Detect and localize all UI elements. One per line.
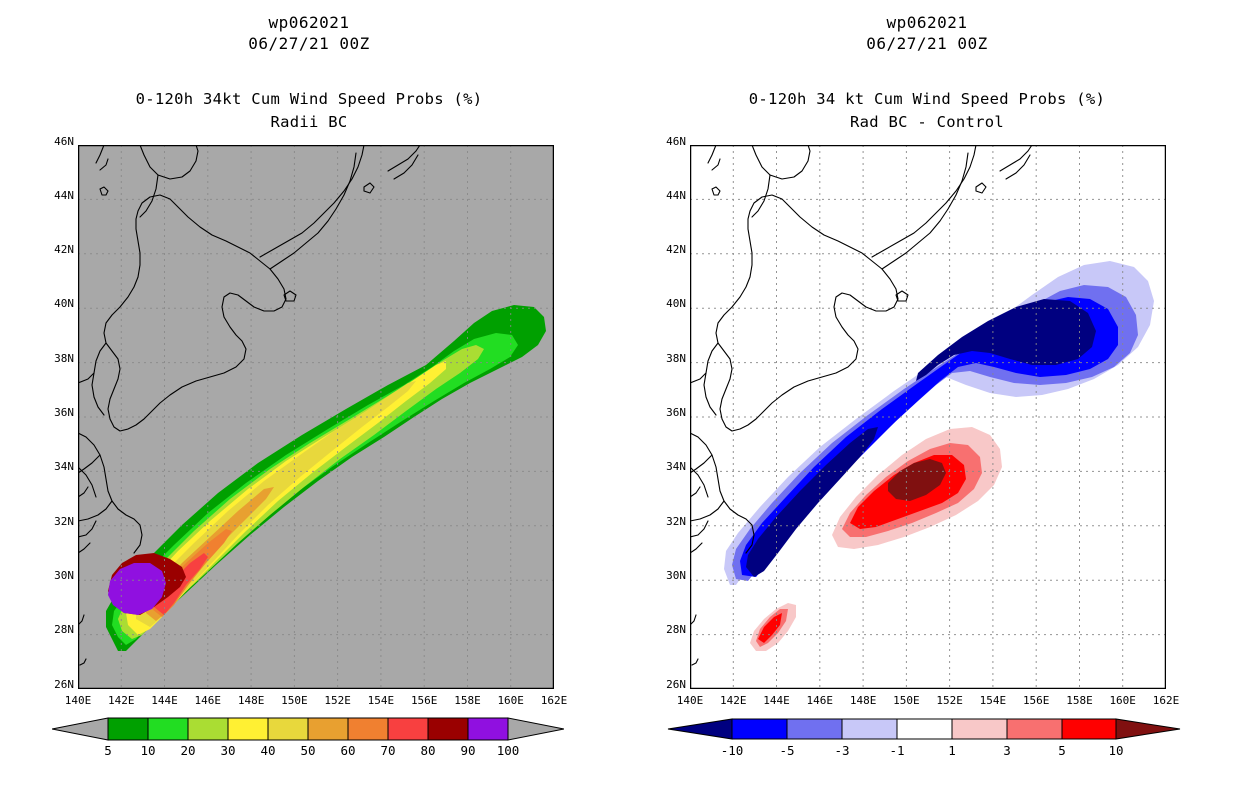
left-ylabel-9: 44N [38, 189, 74, 202]
right-xlabel-9: 158E [1060, 694, 1100, 707]
left-xlabel-1: 142E [101, 694, 141, 707]
left-colorbar: 5 10 20 30 40 50 60 70 80 90 100 [52, 716, 564, 742]
left-colorbar-svg [52, 716, 564, 742]
left-colorbar-swatches [108, 718, 508, 740]
left-xlabel-0: 140E [58, 694, 98, 707]
panel-rad-bc-control: wp062021 06/27/21 00Z 0-120h 34 kt Cum W… [618, 0, 1236, 800]
left-ylabel-0: 26N [38, 678, 74, 691]
left-ylabel-4: 34N [38, 460, 74, 473]
left-ylabel-8: 42N [38, 243, 74, 256]
left-ylabel-3: 32N [38, 515, 74, 528]
right-ylabel-3: 32N [650, 515, 686, 528]
left-subtitle-block: 0-120h 34kt Cum Wind Speed Probs (%) Rad… [0, 88, 618, 134]
left-xlabel-10: 160E [491, 694, 531, 707]
right-cb-label-7: 10 [1096, 743, 1136, 758]
left-ylabel-6: 38N [38, 352, 74, 365]
right-ylabel-2: 30N [650, 569, 686, 582]
right-cb-label-3: -1 [877, 743, 917, 758]
right-xlabel-7: 154E [973, 694, 1013, 707]
page-root: wp062021 06/27/21 00Z 0-120h 34kt Cum Wi… [0, 0, 1236, 800]
right-colorbar-swatches [732, 719, 1116, 739]
right-cb-label-1: -5 [767, 743, 807, 758]
left-xlabel-11: 162E [534, 694, 574, 707]
left-cb-label-1: 10 [128, 743, 168, 758]
right-ylabel-9: 44N [650, 189, 686, 202]
left-cb-label-2: 20 [168, 743, 208, 758]
right-cb-label-4: 1 [932, 743, 972, 758]
right-storm-id: wp062021 [618, 12, 1236, 33]
right-colorbar: -10 -5 -3 -1 1 3 5 10 [664, 716, 1184, 742]
left-xlabel-9: 158E [448, 694, 488, 707]
left-ylabel-5: 36N [38, 406, 74, 419]
left-xlabel-2: 144E [145, 694, 185, 707]
left-xlabel-4: 148E [231, 694, 271, 707]
left-ylabel-1: 28N [38, 623, 74, 636]
left-ylabel-10: 46N [38, 135, 74, 148]
left-colorbar-under-arrow [52, 718, 108, 740]
left-xlabel-8: 156E [404, 694, 444, 707]
right-colorbar-svg [664, 716, 1184, 742]
right-cb-label-5: 3 [987, 743, 1027, 758]
right-ylabel-1: 28N [650, 623, 686, 636]
left-cb-label-8: 80 [408, 743, 448, 758]
left-colorbar-over-arrow [508, 718, 564, 740]
right-xlabel-2: 144E [757, 694, 797, 707]
left-cb-label-0: 5 [88, 743, 128, 758]
left-xlabel-5: 150E [274, 694, 314, 707]
right-xlabel-8: 156E [1016, 694, 1056, 707]
right-ylabel-0: 26N [650, 678, 686, 691]
right-colorbar-under-arrow [668, 719, 732, 739]
left-cb-label-3: 30 [208, 743, 248, 758]
right-map-background [690, 145, 1166, 689]
right-title-block: wp062021 06/27/21 00Z [618, 12, 1236, 54]
left-xlabel-6: 152E [318, 694, 358, 707]
left-plot-area: 26N 28N 30N 32N 34N 36N 38N 40N 42N 44N … [78, 145, 554, 689]
left-cb-label-7: 70 [368, 743, 408, 758]
right-xlabel-10: 160E [1103, 694, 1143, 707]
right-map-svg [690, 145, 1166, 689]
right-ylabel-5: 36N [650, 406, 686, 419]
right-xlabel-5: 150E [886, 694, 926, 707]
right-colorbar-over-arrow [1116, 719, 1180, 739]
right-plot-area: 26N 28N 30N 32N 34N 36N 38N 40N 42N 44N … [690, 145, 1166, 689]
left-cb-label-4: 40 [248, 743, 288, 758]
left-xlabel-7: 154E [361, 694, 401, 707]
right-datetime: 06/27/21 00Z [618, 33, 1236, 54]
left-ylabel-2: 30N [38, 569, 74, 582]
right-cb-label-2: -3 [822, 743, 862, 758]
right-ylabel-4: 34N [650, 460, 686, 473]
right-xlabel-1: 142E [713, 694, 753, 707]
right-xlabel-3: 146E [800, 694, 840, 707]
left-cb-label-6: 60 [328, 743, 368, 758]
left-xlabel-3: 146E [188, 694, 228, 707]
left-storm-id: wp062021 [0, 12, 618, 33]
left-datetime: 06/27/21 00Z [0, 33, 618, 54]
left-cb-label-5: 50 [288, 743, 328, 758]
right-cb-label-6: 5 [1042, 743, 1082, 758]
right-ylabel-6: 38N [650, 352, 686, 365]
left-title-main: 0-120h 34kt Cum Wind Speed Probs (%) [0, 88, 618, 111]
left-cb-label-9: 90 [448, 743, 488, 758]
panel-radii-bc: wp062021 06/27/21 00Z 0-120h 34kt Cum Wi… [0, 0, 618, 800]
right-ylabel-7: 40N [650, 297, 686, 310]
left-ylabel-7: 40N [38, 297, 74, 310]
left-title-block: wp062021 06/27/21 00Z [0, 12, 618, 54]
right-cb-label-0: -10 [712, 743, 752, 758]
right-xlabel-4: 148E [843, 694, 883, 707]
left-map-svg [78, 145, 554, 689]
right-title-main: 0-120h 34 kt Cum Wind Speed Probs (%) [618, 88, 1236, 111]
right-subtitle-block: 0-120h 34 kt Cum Wind Speed Probs (%) Ra… [618, 88, 1236, 134]
left-title-sub: Radii BC [0, 111, 618, 134]
right-xlabel-6: 152E [930, 694, 970, 707]
right-ylabel-8: 42N [650, 243, 686, 256]
left-cb-label-10: 100 [488, 743, 528, 758]
right-ylabel-10: 46N [650, 135, 686, 148]
right-xlabel-11: 162E [1146, 694, 1186, 707]
right-title-sub: Rad BC - Control [618, 111, 1236, 134]
right-xlabel-0: 140E [670, 694, 710, 707]
